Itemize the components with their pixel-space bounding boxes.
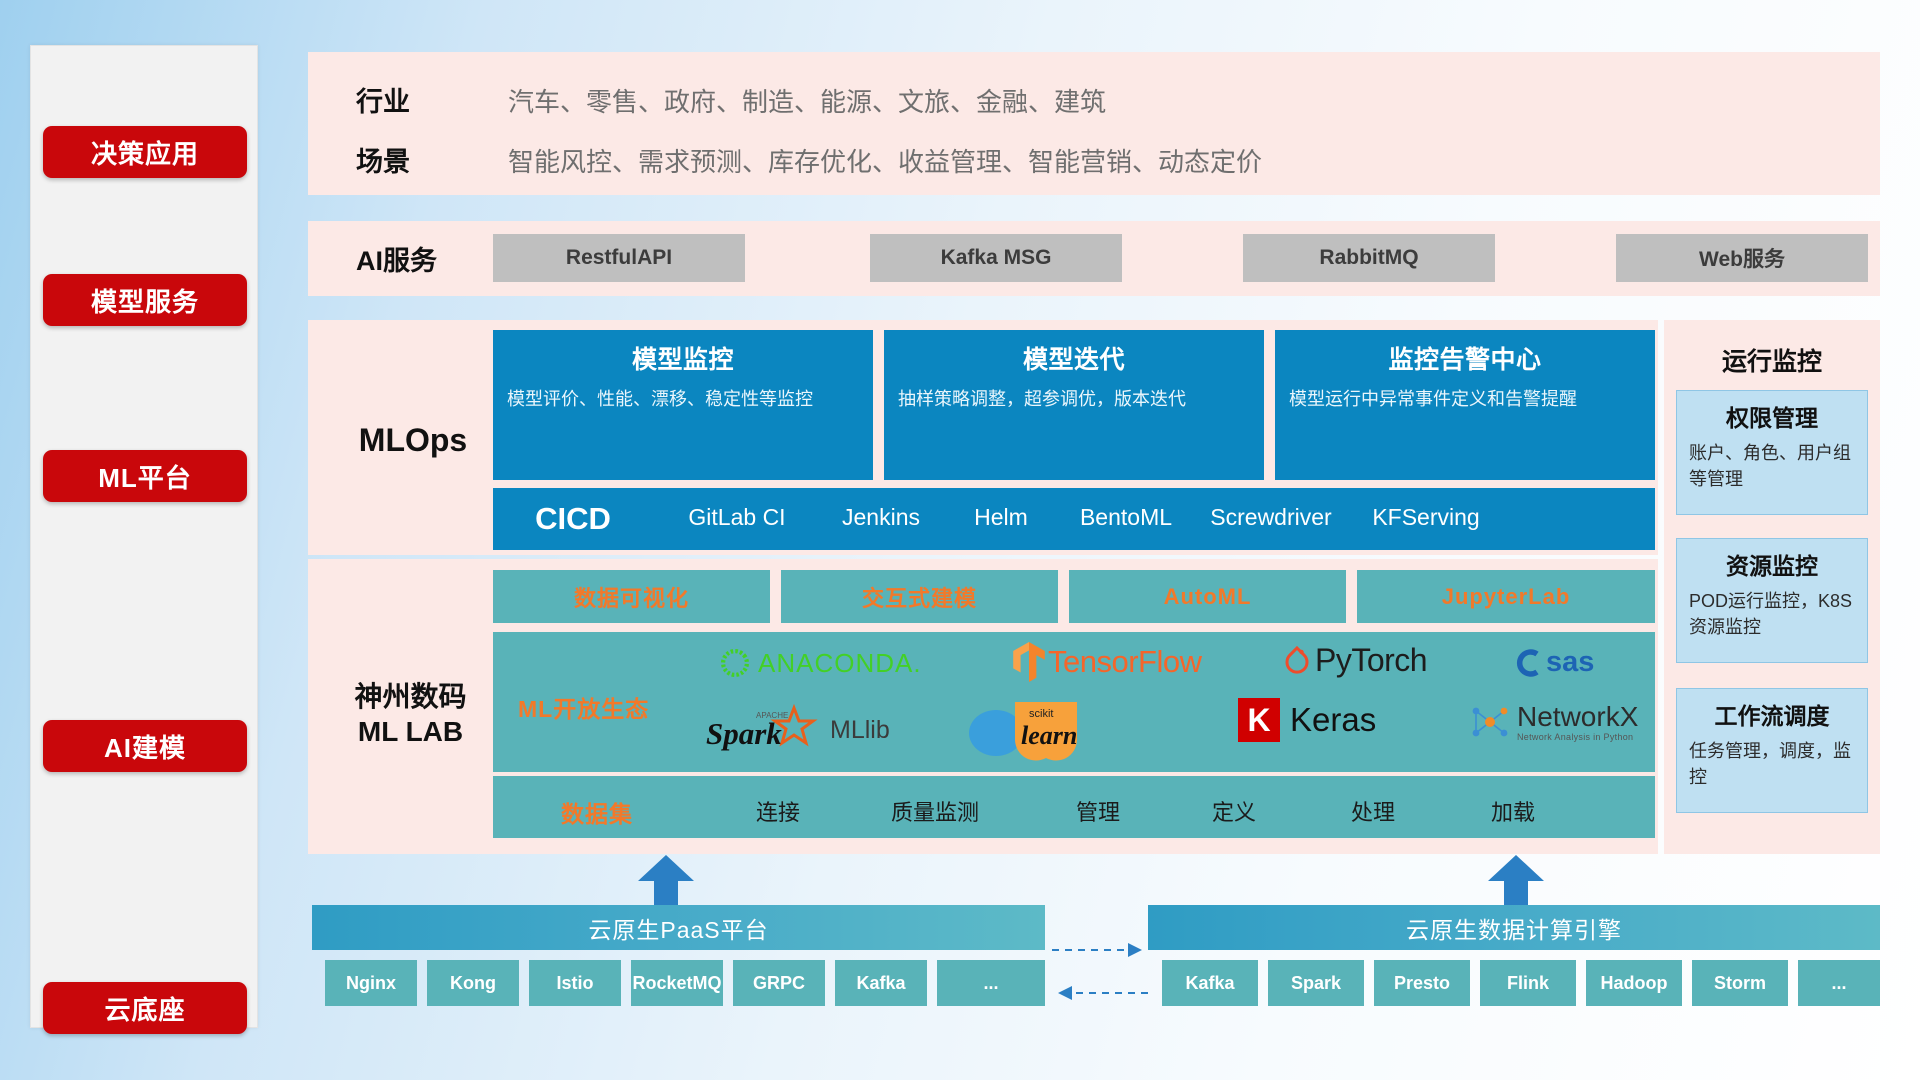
svg-text:scikit: scikit	[1029, 708, 1053, 720]
card-desc: POD运行监控，K8S资源监控	[1689, 588, 1855, 640]
monitoring-column: 运行监控 权限管理 账户、角色、用户组等管理 资源监控 POD运行监控，K8S资…	[1664, 320, 1880, 854]
mlops-card-alert-center[interactable]: 监控告警中心 模型运行中异常事件定义和告警提醒	[1275, 330, 1655, 480]
ai-service-chip-web-service[interactable]: Web服务	[1616, 234, 1868, 282]
dataset-item-quality[interactable]: 质量监测	[855, 795, 1015, 827]
ai-service-label: AI服务	[356, 239, 437, 278]
engine-chip-hadoop[interactable]: Hadoop	[1586, 960, 1682, 1006]
engine-chip-storm[interactable]: Storm	[1692, 960, 1788, 1006]
ml-lab-label: 神州数码 ML LAB	[328, 679, 493, 749]
tab-label: 交互式建模	[862, 581, 977, 613]
chip-label: Kafka	[1185, 973, 1234, 994]
chip-label: Kafka MSG	[941, 246, 1052, 270]
networkx-tagline: Network Analysis in Python	[1517, 733, 1638, 742]
stage-label: 云底座	[104, 990, 185, 1027]
card-title: 工作流调度	[1689, 697, 1855, 731]
keras-mark-letter: K	[1247, 702, 1270, 739]
industry-key: 行业	[356, 80, 410, 119]
card-title: 权限管理	[1689, 399, 1855, 433]
stage-label: 模型服务	[91, 282, 199, 319]
scenario-key: 场景	[356, 140, 410, 179]
stage-badge-decision[interactable]: 决策应用	[43, 126, 247, 178]
monitoring-title: 运行监控	[1664, 342, 1880, 378]
card-title: 模型迭代	[898, 340, 1250, 376]
application-band: 行业 汽车、零售、政府、制造、能源、文旅、金融、建筑 场景 智能风控、需求预测、…	[308, 52, 1880, 195]
monitoring-card-resources[interactable]: 资源监控 POD运行监控，K8S资源监控	[1676, 538, 1868, 663]
cicd-tool-jenkins[interactable]: Jenkins	[821, 502, 941, 533]
chip-label: Hadoop	[1601, 973, 1668, 994]
paas-chip-grpc[interactable]: GRPC	[733, 960, 825, 1006]
chip-label: ...	[983, 973, 998, 994]
stage-badge-ai-modeling[interactable]: AI建模	[43, 720, 247, 772]
spark-mllib-logo: Spark APACHE MLlib	[706, 704, 890, 756]
pytorch-logo: PyTorch	[1283, 642, 1427, 679]
mlops-label: MLOps	[338, 420, 488, 460]
card-desc: 抽样策略调整，超参调优，版本迭代	[898, 386, 1250, 412]
stage-badge-ml-platform[interactable]: ML平台	[43, 450, 247, 502]
ml-lab-label-line2: ML LAB	[358, 716, 463, 747]
ml-ecosystem-panel: ML开放生态 ANACONDA. TensorFlow	[493, 632, 1655, 772]
dataset-item-load[interactable]: 加载	[1448, 795, 1578, 827]
paas-chip-kafka[interactable]: Kafka	[835, 960, 927, 1006]
sas-wordmark: sas	[1546, 646, 1594, 679]
card-desc: 任务管理，调度，监控	[1689, 738, 1855, 790]
dataset-label: 数据集	[561, 795, 633, 829]
ai-service-chip-restfulapi[interactable]: RestfulAPI	[493, 234, 745, 282]
pytorch-mark-icon	[1283, 644, 1311, 678]
chip-label: RestfulAPI	[566, 246, 672, 270]
keras-mark-icon: K	[1238, 698, 1280, 742]
anaconda-wordmark: ANACONDA.	[758, 648, 922, 679]
dataset-item-process[interactable]: 处理	[1308, 795, 1438, 827]
chip-label: GRPC	[753, 973, 805, 994]
anaconda-mark-icon	[718, 646, 752, 680]
engine-chip-spark[interactable]: Spark	[1268, 960, 1364, 1006]
stage-badge-cloud-base[interactable]: 云底座	[43, 982, 247, 1034]
paas-chip-rocketmq[interactable]: RocketMQ	[631, 960, 723, 1006]
ai-service-chip-kafka-msg[interactable]: Kafka MSG	[870, 234, 1122, 282]
anaconda-logo: ANACONDA.	[718, 646, 922, 680]
engine-chip-presto[interactable]: Presto	[1374, 960, 1470, 1006]
ml-lab-tab-automl[interactable]: AutoML	[1069, 570, 1346, 623]
ml-lab-tab-jupyterlab[interactable]: JupyterLab	[1357, 570, 1655, 623]
chip-label: Istio	[556, 973, 593, 994]
cicd-tool-gitlab[interactable]: GitLab CI	[653, 502, 821, 533]
ml-lab-band: 神州数码 ML LAB 数据可视化 交互式建模 AutoML JupyterLa…	[308, 559, 1658, 854]
paas-chip-more[interactable]: ...	[937, 960, 1045, 1006]
chip-label: RocketMQ	[633, 973, 722, 994]
cicd-tool-screwdriver[interactable]: Screwdriver	[1191, 502, 1351, 533]
cicd-bar[interactable]: CICD GitLab CI Jenkins Helm BentoML Scre…	[493, 488, 1655, 550]
tab-label: JupyterLab	[1442, 584, 1571, 610]
networkx-logo: NetworkX Network Analysis in Python	[1468, 702, 1638, 742]
ml-lab-tab-interactive-modeling[interactable]: 交互式建模	[781, 570, 1058, 623]
paas-chip-kong[interactable]: Kong	[427, 960, 519, 1006]
chip-label: Presto	[1394, 973, 1450, 994]
card-title: 资源监控	[1689, 547, 1855, 581]
mlops-card-model-iteration[interactable]: 模型迭代 抽样策略调整，超参调优，版本迭代	[884, 330, 1264, 480]
stage-label: AI建模	[104, 728, 186, 765]
tab-label: 数据可视化	[574, 581, 689, 613]
dataset-item-manage[interactable]: 管理	[1033, 795, 1163, 827]
paas-chip-nginx[interactable]: Nginx	[325, 960, 417, 1006]
cicd-tool-bentoml[interactable]: BentoML	[1061, 502, 1191, 533]
stage-label: 决策应用	[91, 134, 199, 171]
card-title: 监控告警中心	[1289, 340, 1641, 376]
keras-wordmark: Keras	[1290, 701, 1376, 739]
diagram-root: 决策应用 模型服务 ML平台 AI建模 云底座 行业 汽车、零售、政府、制造、能…	[0, 0, 1920, 1080]
card-desc: 模型运行中异常事件定义和告警提醒	[1289, 386, 1641, 412]
mlops-band: MLOps 模型监控 模型评价、性能、漂移、稳定性等监控 模型迭代 抽样策略调整…	[308, 320, 1658, 555]
dataset-item-define[interactable]: 定义	[1169, 795, 1299, 827]
chip-label: ...	[1831, 973, 1846, 994]
ml-ecosystem-label: ML开放生态	[518, 690, 649, 724]
svg-text:APACHE: APACHE	[756, 711, 788, 720]
engine-chip-flink[interactable]: Flink	[1480, 960, 1576, 1006]
cicd-lead-label: CICD	[493, 498, 653, 540]
stage-column: 决策应用 模型服务 ML平台 AI建模 云底座	[30, 45, 258, 1028]
ml-lab-label-line1: 神州数码	[354, 681, 466, 712]
paas-platform-title: 云原生PaaS平台	[588, 911, 768, 945]
chip-label: Web服务	[1699, 243, 1785, 273]
chip-label: Flink	[1507, 973, 1549, 994]
ai-service-chip-rabbitmq[interactable]: RabbitMQ	[1243, 234, 1495, 282]
pytorch-wordmark: PyTorch	[1315, 642, 1427, 679]
card-desc: 模型评价、性能、漂移、稳定性等监控	[507, 386, 859, 412]
data-engine-bar[interactable]: 云原生数据计算引擎	[1148, 905, 1880, 950]
sas-logo: sas	[1515, 646, 1594, 679]
monitoring-card-permissions[interactable]: 权限管理 账户、角色、用户组等管理	[1676, 390, 1868, 515]
tensorflow-mark-icon	[1013, 642, 1045, 682]
stage-label: ML平台	[98, 458, 192, 495]
monitoring-card-workflow[interactable]: 工作流调度 任务管理，调度，监控	[1676, 688, 1868, 813]
spark-mark-icon: Spark APACHE	[706, 704, 826, 756]
ml-lab-tab-visualization[interactable]: 数据可视化	[493, 570, 770, 623]
tensorflow-logo: TensorFlow	[1013, 642, 1202, 682]
chip-label: Kong	[450, 973, 496, 994]
up-arrow-right-icon	[1488, 855, 1544, 907]
scenario-value: 智能风控、需求预测、库存优化、收益管理、智能营销、动态定价	[508, 142, 1262, 179]
up-arrow-left-icon	[638, 855, 694, 907]
card-desc: 账户、角色、用户组等管理	[1689, 440, 1855, 492]
industry-value: 汽车、零售、政府、制造、能源、文旅、金融、建筑	[508, 82, 1106, 119]
chip-label: Spark	[1291, 973, 1341, 994]
paas-chip-istio[interactable]: Istio	[529, 960, 621, 1006]
mlops-card-model-monitoring[interactable]: 模型监控 模型评价、性能、漂移、稳定性等监控	[493, 330, 873, 480]
data-engine-title: 云原生数据计算引擎	[1406, 911, 1622, 945]
ai-service-band: AI服务 RestfulAPI Kafka MSG RabbitMQ Web服务	[308, 221, 1880, 296]
networkx-wordmark: NetworkX	[1517, 703, 1638, 731]
engine-chip-kafka[interactable]: Kafka	[1162, 960, 1258, 1006]
chip-label: Storm	[1714, 973, 1766, 994]
svg-text:learn: learn	[1021, 721, 1077, 750]
dataset-item-connect[interactable]: 连接	[713, 795, 843, 827]
mllib-wordmark: MLlib	[830, 716, 890, 745]
bidirectional-dashed-arrows	[1050, 938, 1150, 1018]
engine-chip-more[interactable]: ...	[1798, 960, 1880, 1006]
cicd-tool-kfserving[interactable]: KFServing	[1351, 502, 1501, 533]
chip-label: Nginx	[346, 973, 396, 994]
paas-platform-bar[interactable]: 云原生PaaS平台	[312, 905, 1045, 950]
tab-label: AutoML	[1164, 584, 1252, 610]
dataset-row: 数据集 连接 质量监测 管理 定义 处理 加载	[493, 776, 1655, 838]
svg-text:Spark: Spark	[706, 716, 782, 751]
scikit-learn-logo: scikit learn	[963, 695, 1098, 761]
sas-mark-icon	[1515, 648, 1545, 678]
cicd-tool-helm[interactable]: Helm	[941, 502, 1061, 533]
chip-label: RabbitMQ	[1319, 246, 1418, 270]
scikit-learn-mark-icon: scikit learn	[963, 695, 1098, 761]
networkx-mark-icon	[1468, 702, 1512, 742]
stage-badge-model-service[interactable]: 模型服务	[43, 274, 247, 326]
keras-logo: K Keras	[1238, 698, 1376, 742]
card-title: 模型监控	[507, 340, 859, 376]
tensorflow-wordmark: TensorFlow	[1048, 644, 1202, 680]
chip-label: Kafka	[856, 973, 905, 994]
